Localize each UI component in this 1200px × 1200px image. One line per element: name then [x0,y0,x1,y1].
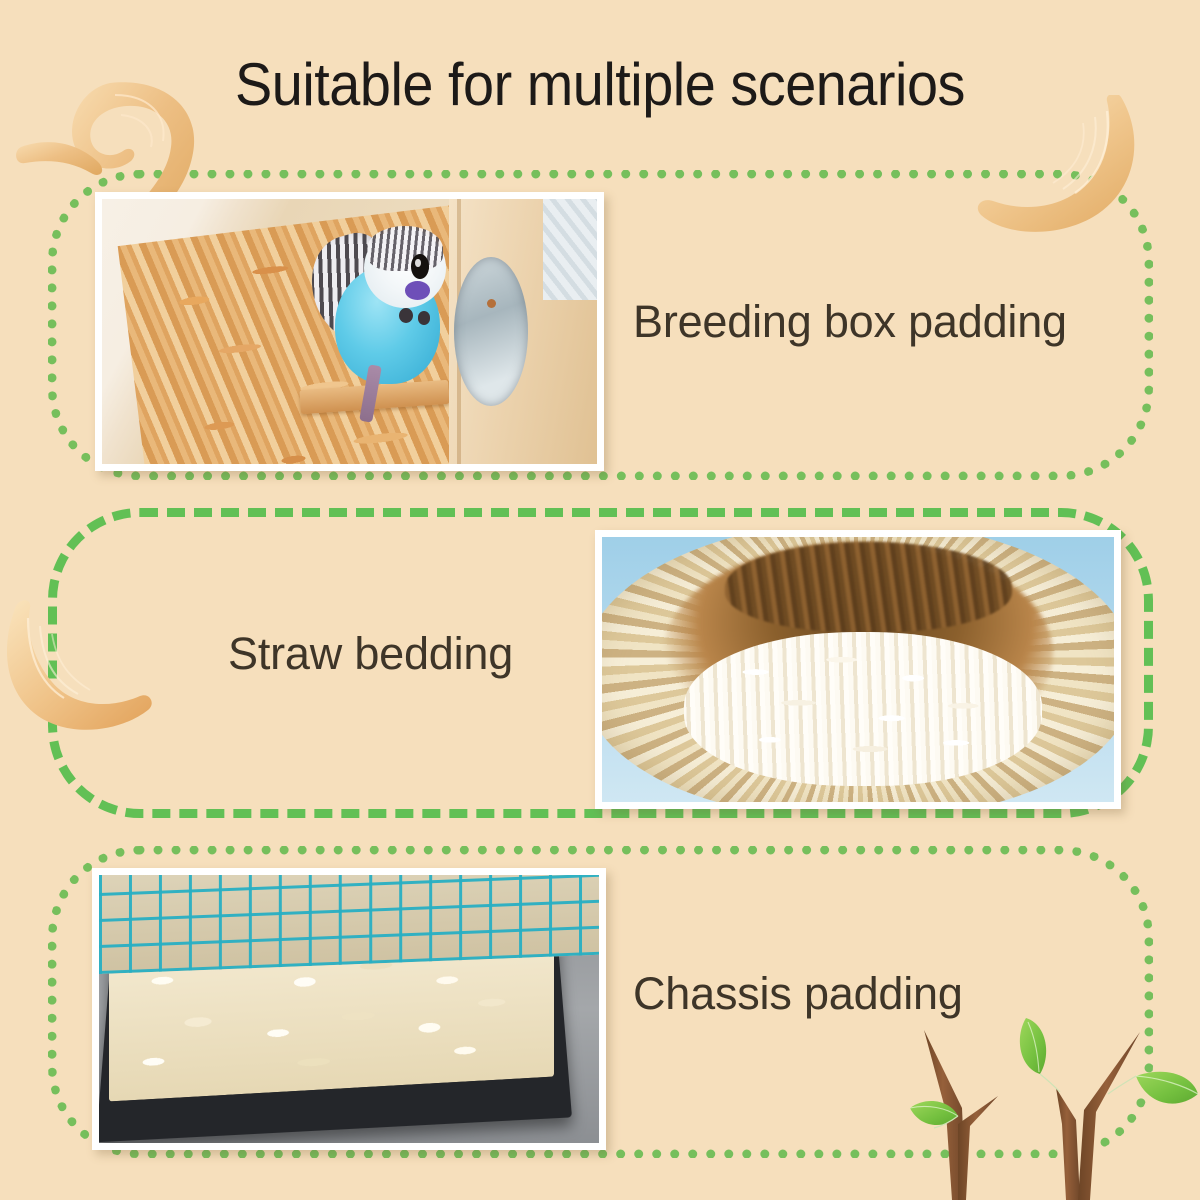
scenario-image-straw-bedding [595,530,1121,809]
scenario-label-chassis-padding: Chassis padding [633,968,963,1020]
scenario-label-straw-bedding: Straw bedding [228,628,513,680]
budgerigar-illustration [310,212,468,403]
page-title: Suitable for multiple scenarios [42,50,1158,119]
scenario-label-breeding-box: Breeding box padding [633,296,1067,348]
scenario-image-chassis-padding [92,868,606,1150]
infographic-page: Suitable for multiple scenarios [0,0,1200,1200]
scenario-image-breeding-box [95,192,604,471]
